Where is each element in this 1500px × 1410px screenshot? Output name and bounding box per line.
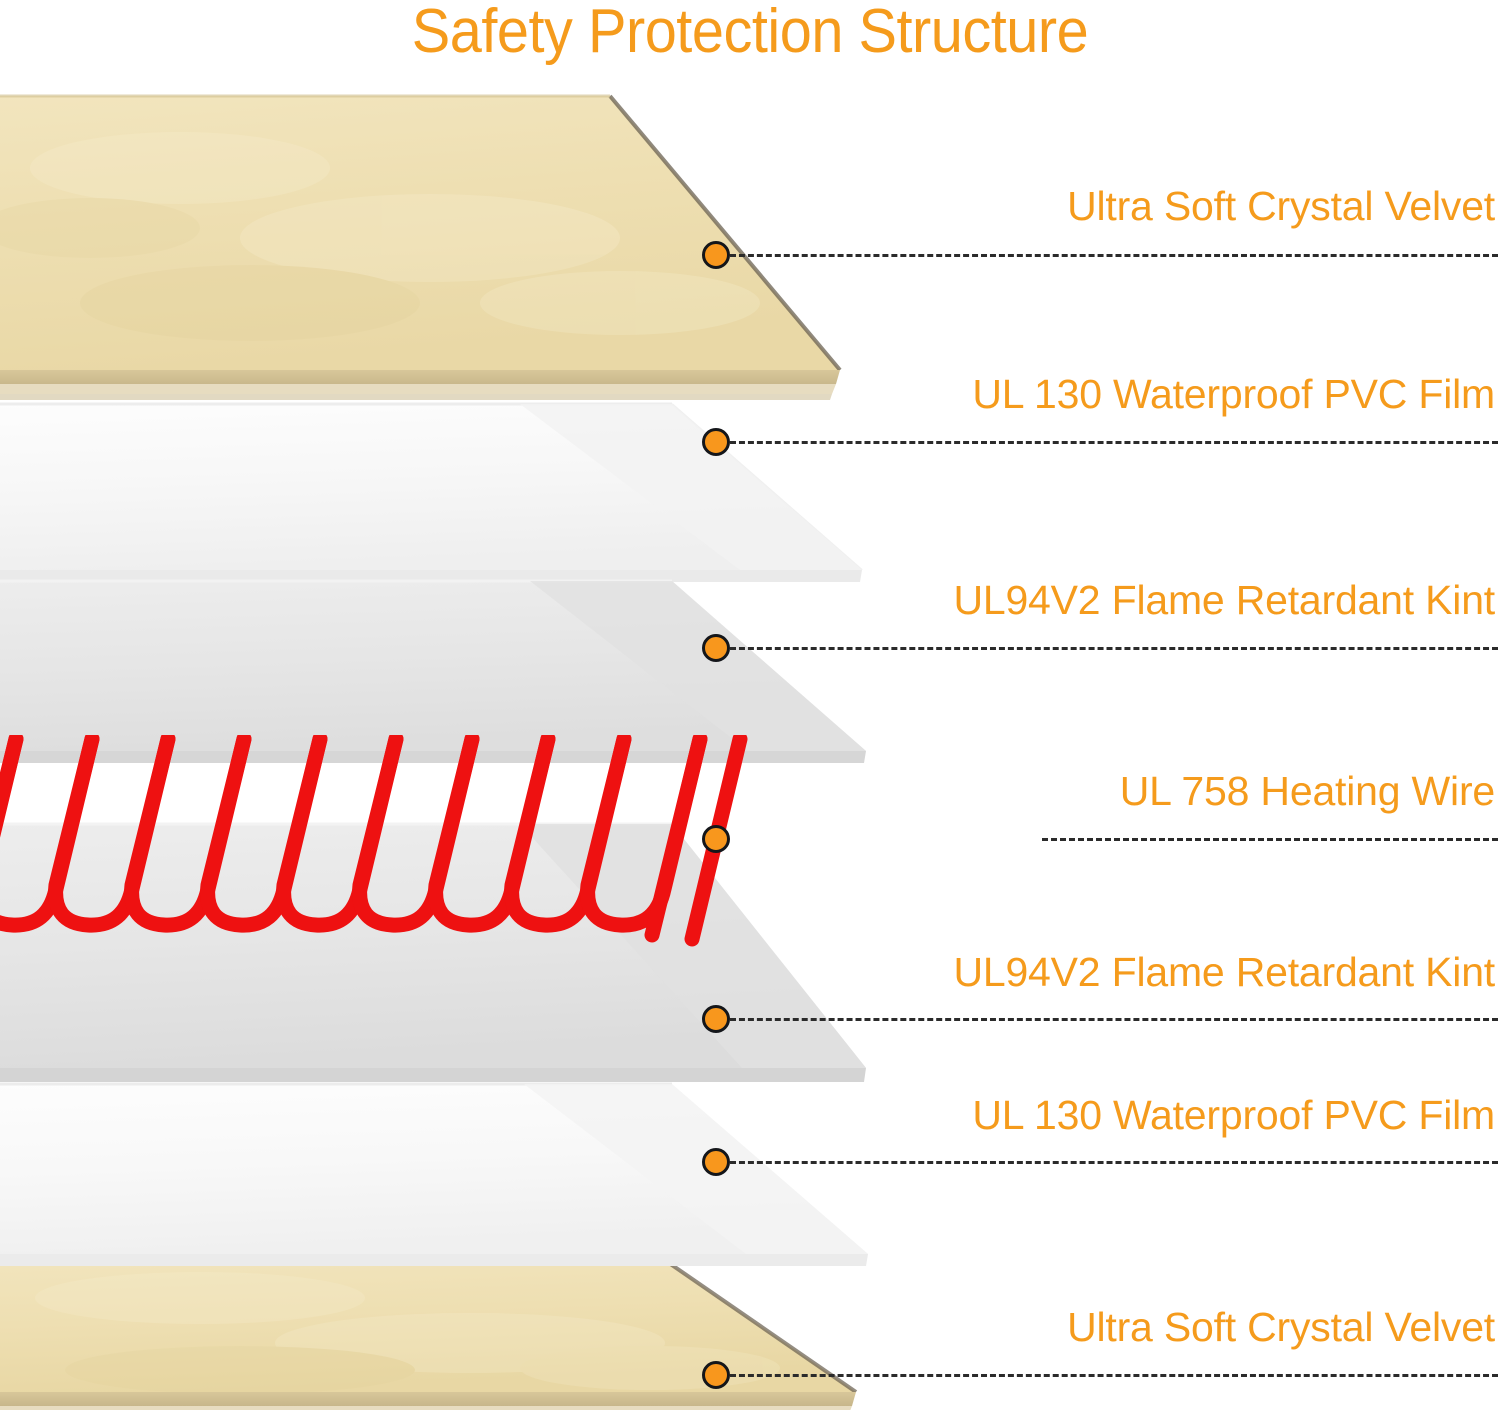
callout-dot-icon[interactable] bbox=[702, 1148, 730, 1176]
layer-label-velvet-bottom: Ultra Soft Crystal Velvet bbox=[498, 1304, 1495, 1351]
layer-velvet-top bbox=[0, 88, 880, 408]
layer-label-pvc-bottom: UL 130 Waterproof PVC Film bbox=[498, 1092, 1495, 1139]
callout-dot-icon[interactable] bbox=[702, 825, 730, 853]
callout-dot-icon[interactable] bbox=[702, 428, 730, 456]
callout-dash-line bbox=[730, 254, 1498, 257]
layer-label-heating-wire: UL 758 Heating Wire bbox=[498, 768, 1495, 815]
layer-label-pvc-top: UL 130 Waterproof PVC Film bbox=[498, 371, 1495, 418]
callout-dot-icon[interactable] bbox=[702, 1361, 730, 1389]
layer-pvc-top bbox=[0, 398, 900, 598]
layer-label-velvet-top: Ultra Soft Crystal Velvet bbox=[498, 183, 1495, 230]
callout-dash-line bbox=[730, 441, 1498, 444]
layer-label-knit-bottom: UL94V2 Flame Retardant Kint bbox=[498, 949, 1495, 996]
callout-dot-icon[interactable] bbox=[702, 241, 730, 269]
callout-dash-line bbox=[730, 1018, 1498, 1021]
layer-label-knit-top: UL94V2 Flame Retardant Kint bbox=[498, 577, 1495, 624]
callout-dot-icon[interactable] bbox=[702, 634, 730, 662]
callout-dash-line bbox=[1042, 838, 1498, 841]
callout-dash-line bbox=[730, 647, 1498, 650]
callout-dash-line bbox=[730, 1374, 1498, 1377]
page-title: Safety Protection Structure bbox=[53, 0, 1448, 67]
callout-dot-icon[interactable] bbox=[702, 1005, 730, 1033]
infographic-root: Safety Protection Structure bbox=[0, 0, 1500, 1410]
callout-dash-line bbox=[730, 1161, 1498, 1164]
